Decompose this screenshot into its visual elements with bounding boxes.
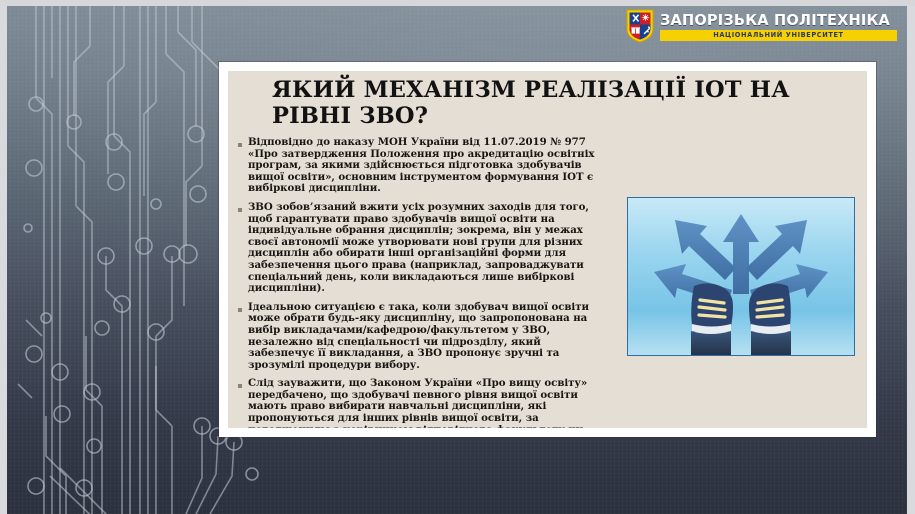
frame-edge-top [0, 0, 915, 6]
frame-edge-left [0, 0, 7, 514]
university-coat-of-arms-icon [626, 9, 654, 43]
bullet-list: Відповідно до наказу МОН України від 11.… [238, 137, 610, 428]
frame-edge-right [907, 0, 915, 514]
bullet-square-icon [238, 308, 242, 312]
logo-subtitle: НАЦІОНАЛЬНИЙ УНІВЕРСИТЕТ [660, 30, 897, 41]
bullet-square-icon [238, 143, 242, 147]
list-item-text: ЗВО зобов’язаний вжити усіх розумних зах… [248, 202, 610, 295]
slide-content: ЯКИЙ МЕХАНІЗМ РЕАЛІЗАЦІЇ ІОТ НА РІВНІ ЗВ… [228, 71, 867, 428]
list-item: ЗВО зобов’язаний вжити усіх розумних зах… [238, 202, 610, 295]
list-item-text: Відповідно до наказу МОН України від 11.… [248, 137, 610, 195]
list-item: Ідеальною ситуацією є така, коли здобува… [238, 302, 610, 372]
university-logo: ЗАПОРІЗЬКА ПОЛІТЕХНІКА НАЦІОНАЛЬНИЙ УНІВ… [626, 10, 897, 42]
crossroads-arrows-photo [627, 197, 855, 356]
list-item: Слід зауважити, що Законом України «Про … [238, 378, 610, 428]
list-item: Відповідно до наказу МОН України від 11.… [238, 137, 610, 195]
slide-card: ЯКИЙ МЕХАНІЗМ РЕАЛІЗАЦІЇ ІОТ НА РІВНІ ЗВ… [219, 62, 876, 437]
slide-stage: ЗАПОРІЗЬКА ПОЛІТЕХНІКА НАЦІОНАЛЬНИЙ УНІВ… [0, 0, 915, 514]
logo-title: ЗАПОРІЗЬКА ПОЛІТЕХНІКА [660, 12, 890, 28]
page-title: ЯКИЙ МЕХАНІЗМ РЕАЛІЗАЦІЇ ІОТ НА РІВНІ ЗВ… [228, 71, 867, 129]
bullet-square-icon [238, 384, 242, 388]
bullet-square-icon [238, 208, 242, 212]
list-item-text: Слід зауважити, що Законом України «Про … [248, 378, 610, 428]
list-item-text: Ідеальною ситуацією є така, коли здобува… [248, 302, 610, 372]
